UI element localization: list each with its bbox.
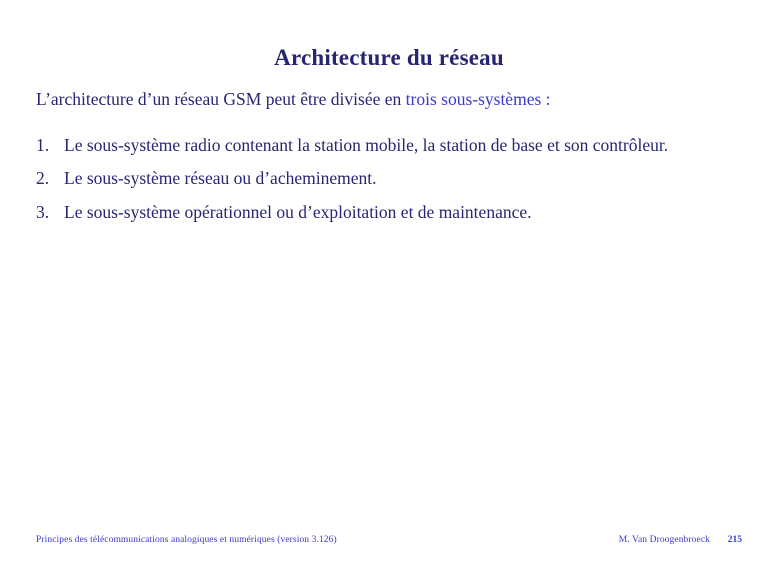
intro-paragraph: L’architecture d’un réseau GSM peut être… — [36, 88, 748, 112]
list-item-number: 3. — [36, 201, 58, 224]
footer-right-group: M. Van Droogenbroeck 215 — [619, 535, 742, 545]
subsystem-list: 1. Le sous-système radio contenant la st… — [36, 134, 748, 224]
list-item-label: Le sous-système opérationnel ou d’exploi… — [64, 202, 532, 222]
footer-page-number: 215 — [724, 535, 742, 545]
slide-body: L’architecture d’un réseau GSM peut être… — [36, 88, 748, 235]
slide: Architecture du réseau L’architecture d’… — [0, 0, 778, 585]
footer-document-title: Principes des télécommunications analogi… — [36, 535, 337, 545]
slide-footer: Principes des télécommunications analogi… — [36, 535, 742, 551]
list-item-number: 1. — [36, 134, 58, 157]
list-item: 2. Le sous-système réseau ou d’acheminem… — [36, 167, 748, 190]
list-item: 3. Le sous-système opérationnel ou d’exp… — [36, 201, 748, 224]
list-item-number: 2. — [36, 167, 58, 190]
list-item-label: Le sous-système réseau ou d’acheminement… — [64, 168, 376, 188]
intro-lead-text: L’architecture d’un réseau GSM peut être… — [36, 89, 406, 109]
list-item-label: Le sous-système radio contenant la stati… — [64, 135, 668, 155]
intro-highlight-text: trois sous-systèmes : — [406, 89, 551, 109]
page-title: Architecture du réseau — [0, 44, 778, 72]
list-item: 1. Le sous-système radio contenant la st… — [36, 134, 748, 157]
footer-author: M. Van Droogenbroeck — [619, 535, 710, 545]
